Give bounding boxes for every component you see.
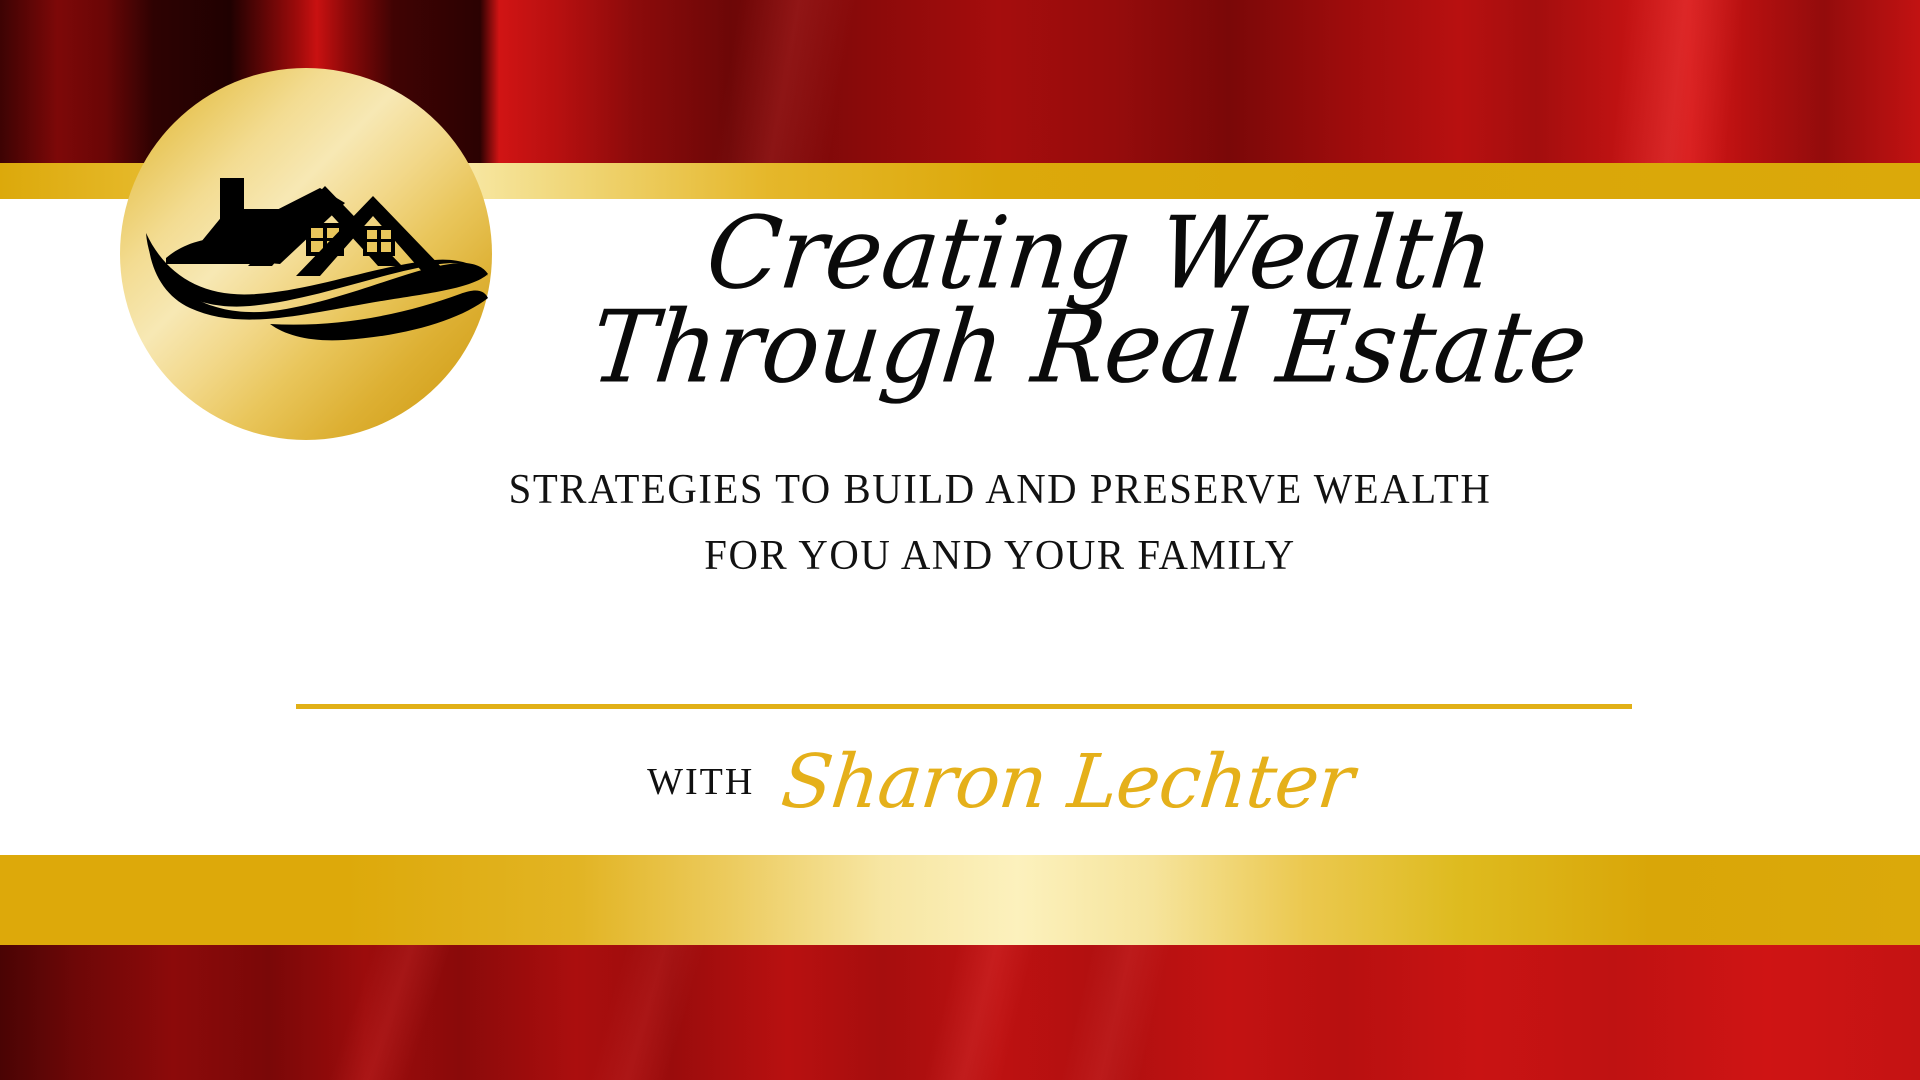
slide-subtitle: STRATEGIES TO BUILD AND PRESERVE WEALTH … (360, 457, 1640, 589)
bottom-gold-bar (0, 855, 1920, 945)
house-swoosh-icon (120, 68, 492, 440)
title-line-2: Through Real Estate (432, 291, 1746, 403)
slide-title: Creating Wealth Through Real Estate (460, 199, 1740, 401)
brand-logo (120, 68, 492, 440)
presenter-byline: WITHSharon Lechter (360, 739, 1640, 825)
subtitle-line-2: FOR YOU AND YOUR FAMILY (379, 523, 1621, 589)
bottom-red-banner (0, 945, 1920, 1080)
byline-preposition: WITH (647, 761, 754, 803)
subtitle-line-1: STRATEGIES TO BUILD AND PRESERVE WEALTH (379, 457, 1621, 523)
gold-divider (296, 704, 1632, 709)
presenter-name: Sharon Lechter (778, 739, 1358, 825)
presentation-slide: Creating Wealth Through Real Estate STRA… (0, 0, 1920, 1080)
